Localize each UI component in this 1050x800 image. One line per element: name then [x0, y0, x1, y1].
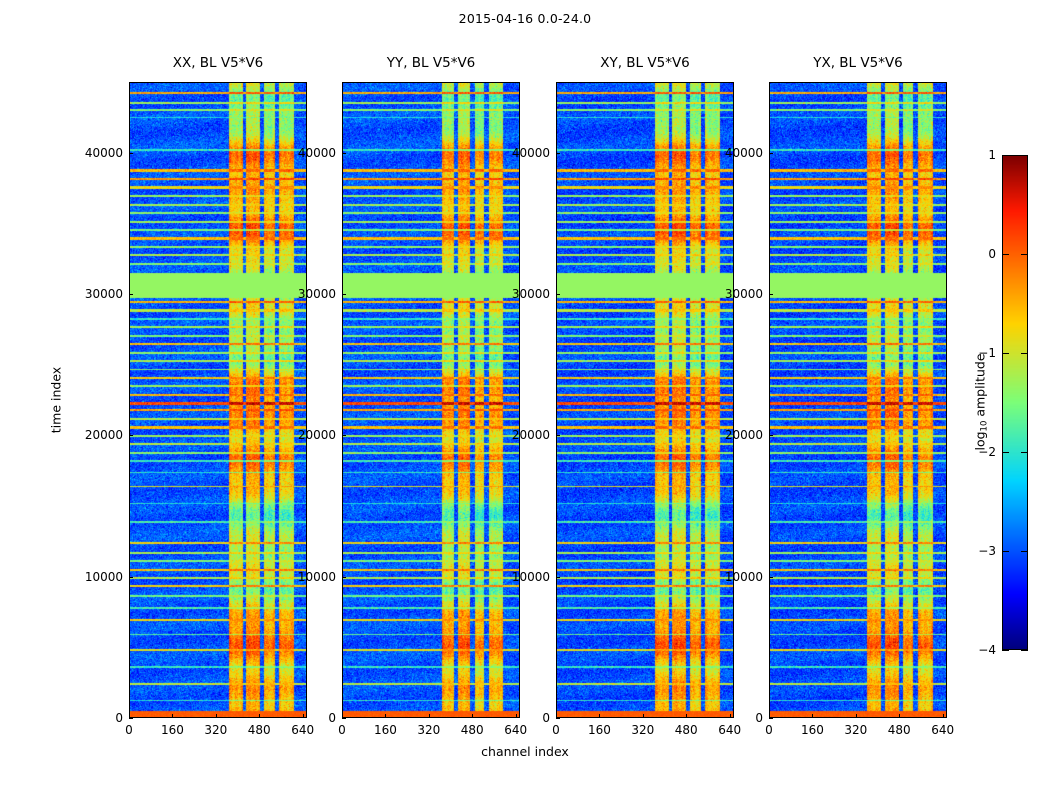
figure-canvas: 2015-04-16 0.0-24.0 XX, BL V5*V6YY, BL V…	[0, 0, 1050, 800]
y-axis-tick-mark	[769, 435, 773, 436]
x-axis-tick-mark	[730, 714, 731, 718]
colorbar-tick-mark	[1002, 650, 1009, 651]
y-axis-tick-label: 10000	[707, 570, 763, 584]
y-axis-tick-label: 40000	[67, 146, 123, 160]
y-axis-tick-mark	[342, 718, 346, 719]
y-axis-tick-mark	[556, 435, 560, 436]
x-axis-tick-label: 640	[718, 723, 741, 737]
x-axis-tick-mark	[599, 714, 600, 718]
x-axis-tick-mark	[303, 714, 304, 718]
y-axis-tick-label: 20000	[280, 428, 336, 442]
x-axis-tick-mark	[812, 714, 813, 718]
colorbar-tick-mark	[1021, 353, 1028, 354]
colorbar-tick-mark	[1021, 155, 1028, 156]
x-axis-tick-label: 160	[801, 723, 824, 737]
y-axis-tick-label: 10000	[67, 570, 123, 584]
y-axis-tick-mark	[342, 294, 346, 295]
colorbar-tick-mark	[1021, 452, 1028, 453]
y-axis-tick-mark	[342, 153, 346, 154]
waterfall-image	[130, 83, 306, 717]
colorbar	[1002, 155, 1028, 650]
waterfall-image	[343, 83, 519, 717]
x-axis-tick-mark	[899, 714, 900, 718]
colorbar-label: log10 amplitude	[973, 353, 990, 450]
panel-title: YX, BL V5*V6	[769, 55, 947, 73]
y-axis-tick-label: 30000	[707, 287, 763, 301]
x-axis-label: channel index	[0, 744, 1050, 759]
y-axis-tick-label: 40000	[494, 146, 550, 160]
x-axis-tick-label: 640	[291, 723, 314, 737]
x-axis-tick-label: 320	[631, 723, 654, 737]
waterfall-panel-yx	[769, 82, 947, 718]
x-axis-tick-label: 480	[248, 723, 271, 737]
y-axis-tick-label: 20000	[67, 428, 123, 442]
colorbar-tick-label: −3	[978, 544, 996, 558]
x-axis-tick-mark	[216, 714, 217, 718]
colorbar-tick-label: 0	[988, 247, 996, 261]
y-axis-tick-label: 30000	[67, 287, 123, 301]
y-axis-tick-label: 10000	[280, 570, 336, 584]
y-axis-tick-mark	[342, 435, 346, 436]
x-axis-tick-mark	[172, 714, 173, 718]
x-axis-tick-label: 480	[461, 723, 484, 737]
x-axis-tick-mark	[943, 714, 944, 718]
y-axis-tick-mark	[556, 577, 560, 578]
y-axis-tick-mark	[556, 294, 560, 295]
panel-title: XX, BL V5*V6	[129, 55, 307, 73]
y-axis-tick-mark	[129, 435, 133, 436]
x-axis-tick-label: 480	[675, 723, 698, 737]
x-axis-tick-mark	[472, 714, 473, 718]
colorbar-tick-mark	[1021, 650, 1028, 651]
y-axis-tick-mark	[556, 153, 560, 154]
colorbar-tick-label: 1	[988, 148, 996, 162]
x-axis-tick-mark	[769, 714, 770, 718]
y-axis-tick-label: 30000	[494, 287, 550, 301]
x-axis-tick-mark	[342, 714, 343, 718]
x-axis-tick-mark	[129, 714, 130, 718]
colorbar-tick-mark	[1002, 353, 1009, 354]
colorbar-tick-mark	[1021, 551, 1028, 552]
x-axis-tick-label: 640	[504, 723, 527, 737]
colorbar-tick-mark	[1002, 155, 1009, 156]
x-axis-tick-mark	[259, 714, 260, 718]
y-axis-tick-mark	[556, 718, 560, 719]
waterfall-panel-xx	[129, 82, 307, 718]
x-axis-tick-label: 320	[844, 723, 867, 737]
y-axis-tick-label: 40000	[280, 146, 336, 160]
y-axis-label: time index	[49, 367, 64, 433]
colorbar-tick-mark	[1021, 254, 1028, 255]
x-axis-tick-label: 0	[338, 723, 346, 737]
x-axis-tick-label: 480	[888, 723, 911, 737]
waterfall-panel-yy	[342, 82, 520, 718]
panel-title: YY, BL V5*V6	[342, 55, 520, 73]
x-axis-tick-label: 160	[588, 723, 611, 737]
y-axis-tick-label: 40000	[707, 146, 763, 160]
y-axis-tick-label: 20000	[707, 428, 763, 442]
x-axis-tick-label: 320	[417, 723, 440, 737]
waterfall-panel-xy	[556, 82, 734, 718]
x-axis-tick-label: 160	[161, 723, 184, 737]
colorbar-tick-label: −4	[978, 643, 996, 657]
figure-suptitle: 2015-04-16 0.0-24.0	[0, 11, 1050, 26]
y-axis-tick-label: 30000	[280, 287, 336, 301]
x-axis-tick-mark	[556, 714, 557, 718]
y-axis-tick-mark	[129, 718, 133, 719]
y-axis-tick-label: 0	[67, 711, 123, 725]
y-axis-tick-mark	[129, 577, 133, 578]
x-axis-tick-mark	[385, 714, 386, 718]
waterfall-image	[770, 83, 946, 717]
x-axis-tick-mark	[429, 714, 430, 718]
x-axis-tick-label: 0	[552, 723, 560, 737]
y-axis-tick-mark	[129, 294, 133, 295]
x-axis-tick-mark	[686, 714, 687, 718]
x-axis-tick-mark	[856, 714, 857, 718]
y-axis-tick-mark	[769, 718, 773, 719]
y-axis-tick-mark	[769, 153, 773, 154]
waterfall-image	[557, 83, 733, 717]
x-axis-tick-label: 0	[765, 723, 773, 737]
y-axis-tick-mark	[769, 577, 773, 578]
y-axis-tick-label: 20000	[494, 428, 550, 442]
panel-title: XY, BL V5*V6	[556, 55, 734, 73]
colorbar-gradient	[1003, 156, 1027, 649]
x-axis-tick-mark	[516, 714, 517, 718]
colorbar-tick-mark	[1002, 551, 1009, 552]
y-axis-tick-mark	[129, 153, 133, 154]
x-axis-tick-label: 0	[125, 723, 133, 737]
x-axis-tick-label: 640	[931, 723, 954, 737]
x-axis-tick-mark	[643, 714, 644, 718]
colorbar-tick-mark	[1002, 452, 1009, 453]
colorbar-tick-mark	[1002, 254, 1009, 255]
x-axis-tick-label: 320	[204, 723, 227, 737]
y-axis-tick-label: 10000	[494, 570, 550, 584]
y-axis-tick-mark	[342, 577, 346, 578]
x-axis-tick-label: 160	[374, 723, 397, 737]
y-axis-tick-mark	[769, 294, 773, 295]
